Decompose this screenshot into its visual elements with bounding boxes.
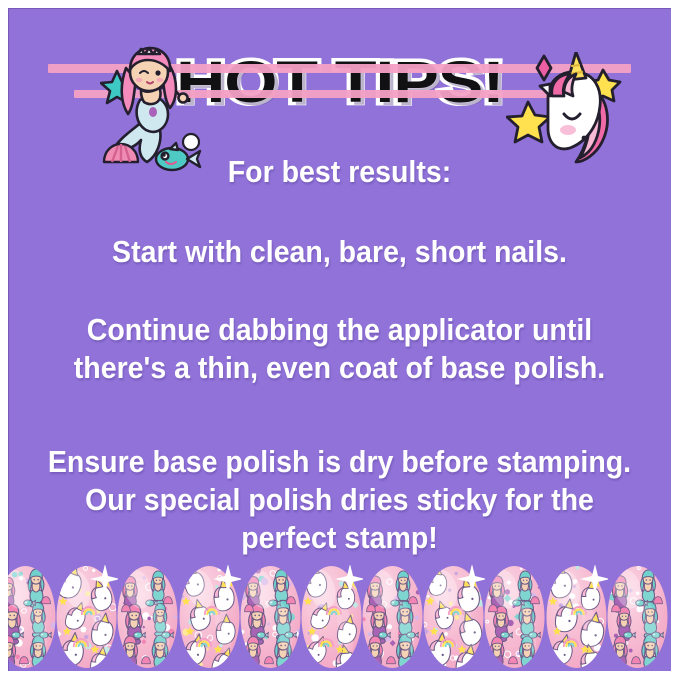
page-title: HOT TIPS!: [176, 54, 504, 112]
nail-unicorn: [545, 565, 608, 669]
nail-unicorn: [178, 565, 241, 669]
purple-card: HOT TIPS!: [8, 8, 671, 671]
nail-mermaid: [606, 565, 669, 669]
nail-strip: [8, 553, 671, 671]
nail-unicorn: [422, 565, 485, 669]
tip-3-line-3: perfect stamp!: [35, 522, 645, 554]
nail-mermaid: [483, 565, 546, 669]
nail-mermaid: [361, 565, 424, 669]
mermaid-sticker: [100, 44, 210, 174]
subtitle: For best results:: [35, 156, 645, 188]
tip-2-line-2: there's a thin, even coat of base polish…: [35, 352, 645, 384]
nail-mermaid: [239, 565, 302, 669]
tip-3-line-2: Our special polish dries sticky for the: [35, 484, 645, 516]
tip-2-line-1: Continue dabbing the applicator until: [35, 314, 645, 346]
nail-mermaid: [8, 565, 57, 669]
nail-unicorn: [300, 565, 363, 669]
nail-mermaid: [116, 565, 179, 669]
tip-1-line-1: Start with clean, bare, short nails.: [35, 236, 645, 268]
promo-image: HOT TIPS!: [0, 0, 679, 679]
tip-3-line-1: Ensure base polish is dry before stampin…: [35, 446, 645, 478]
nail-unicorn: [55, 565, 118, 669]
